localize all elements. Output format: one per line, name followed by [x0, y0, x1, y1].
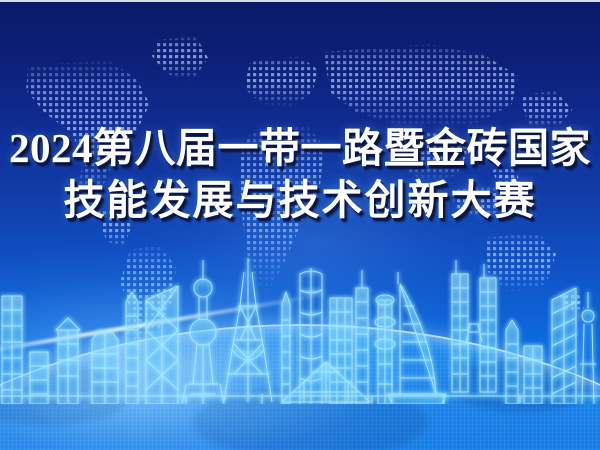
top-rule-divider [0, 0, 600, 2]
promotional-poster: 2024第八届一带一路暨金砖国家 技能发展与技术创新大赛 [0, 0, 600, 450]
page-title-line-2: 技能发展与技术创新大赛 [0, 174, 600, 226]
poster-headline: 2024第八届一带一路暨金砖国家 技能发展与技术创新大赛 [0, 122, 600, 226]
page-title-line-1: 2024第八届一带一路暨金砖国家 [0, 122, 600, 174]
